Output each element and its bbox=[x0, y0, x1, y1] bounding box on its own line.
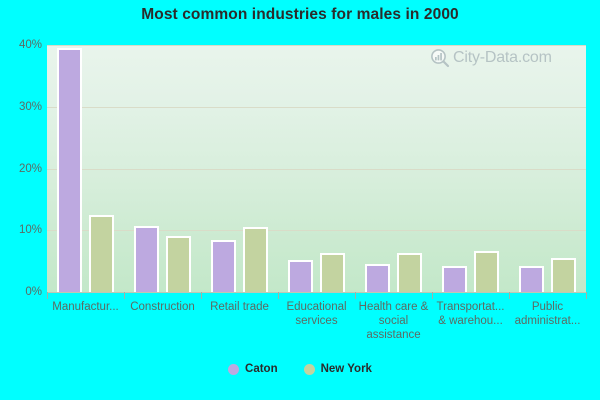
legend-label: Caton bbox=[245, 363, 278, 375]
x-axis-line bbox=[47, 292, 586, 293]
x-axis-label: Public administrat... bbox=[509, 300, 586, 328]
x-axis-tick bbox=[355, 292, 356, 299]
plot-area bbox=[47, 45, 586, 292]
legend-item[interactable]: New York bbox=[304, 363, 372, 375]
legend-item[interactable]: Caton bbox=[228, 363, 278, 375]
x-axis-label: Health care & social assistance bbox=[355, 300, 432, 342]
x-axis-tick bbox=[586, 292, 587, 299]
bar[interactable] bbox=[551, 258, 576, 292]
x-axis-tick bbox=[124, 292, 125, 299]
x-axis-label: Construction bbox=[124, 300, 201, 314]
y-axis-tick-label: 20% bbox=[0, 163, 42, 175]
x-axis-tick bbox=[278, 292, 279, 299]
x-axis-label: Educational services bbox=[278, 300, 355, 328]
bar-group bbox=[47, 45, 586, 292]
x-axis-label: Transportat... & warehou... bbox=[432, 300, 509, 328]
magnifier-bar-chart-icon bbox=[430, 48, 450, 68]
chart-title: Most common industries for males in 2000 bbox=[0, 6, 600, 24]
legend-swatch bbox=[228, 364, 239, 375]
bar-chart: Most common industries for males in 2000… bbox=[0, 0, 600, 400]
bar[interactable] bbox=[519, 266, 544, 292]
legend: CatonNew York bbox=[0, 363, 600, 375]
x-axis-tick bbox=[201, 292, 202, 299]
watermark: City-Data.com bbox=[430, 48, 552, 68]
x-axis-tick bbox=[47, 292, 48, 299]
y-axis-tick-label: 0% bbox=[0, 286, 42, 298]
y-axis-tick-label: 30% bbox=[0, 101, 42, 113]
y-axis-tick-label: 40% bbox=[0, 39, 42, 51]
x-axis-label: Manufactur... bbox=[47, 300, 124, 314]
x-axis-tick bbox=[509, 292, 510, 299]
y-axis-tick-label: 10% bbox=[0, 224, 42, 236]
legend-label: New York bbox=[321, 363, 372, 375]
x-axis-tick bbox=[432, 292, 433, 299]
watermark-text: City-Data.com bbox=[453, 49, 552, 67]
legend-swatch bbox=[304, 364, 315, 375]
x-axis-label: Retail trade bbox=[201, 300, 278, 314]
